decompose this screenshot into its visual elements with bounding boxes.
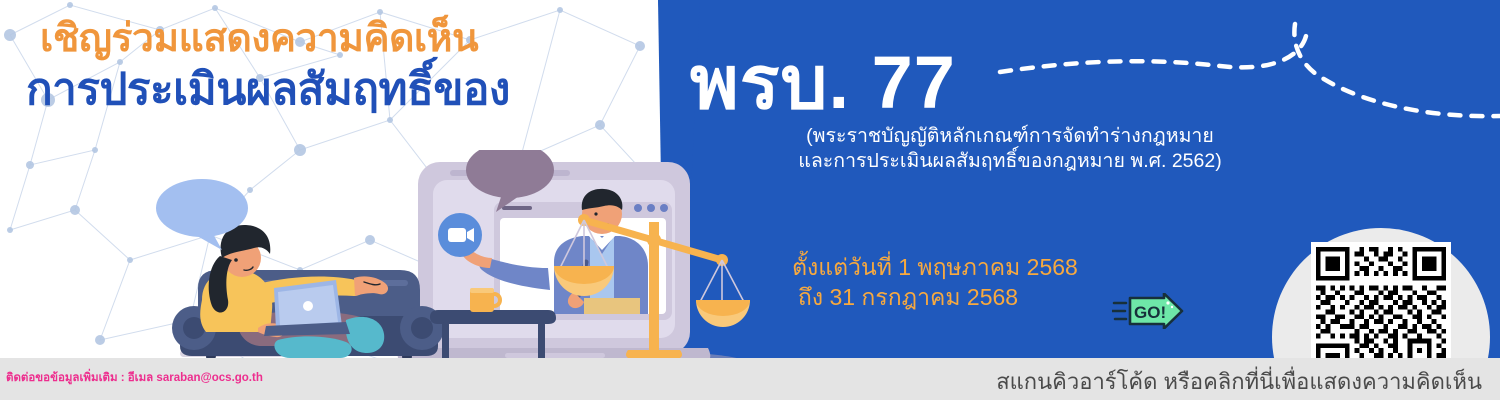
headline-invitation: เชิญร่วมแสดงความคิดเห็น <box>40 18 686 60</box>
act-subtitle-line2: และการประเมินผลสัมฤทธิ์ของกฎหมาย พ.ศ. 25… <box>690 149 1310 174</box>
go-label: GO! <box>1134 303 1166 322</box>
act-subtitle: (พระราชบัญญัติหลักเกณฑ์การจัดทำร่างกฎหมา… <box>690 124 1310 174</box>
act-subtitle-line1: (พระราชบัญญัติหลักเกณฑ์การจัดทำร่างกฎหมา… <box>690 124 1310 149</box>
headline-assessment: การประเมินผลสัมฤทธิ์ของ <box>26 66 686 114</box>
act-block: พรบ. 77 (พระราชบัญญัติหลักเกณฑ์การจัดทำร… <box>690 48 1310 174</box>
sofa-and-woman <box>172 225 444 374</box>
footer-contact-email: ติดต่อขอข้อมูลเพิ่มเติม : อีเมล saraban@… <box>6 369 263 387</box>
footer-cta-link[interactable]: สแกนคิวอาร์โค้ด หรือคลิกที่นี่เพื่อแสดงค… <box>996 364 1482 399</box>
act-title: พรบ. 77 <box>690 48 1310 118</box>
banner: เชิญร่วมแสดงความคิดเห็น การประเมินผลสัมฤ… <box>0 0 1500 400</box>
headline-block: เชิญร่วมแสดงความคิดเห็น การประเมินผลสัมฤ… <box>26 18 686 115</box>
period-start-line: ตั้งแต่วันที่ 1 พฤษภาคม 2568 <box>700 252 1170 282</box>
go-arrow-icon[interactable]: GO! <box>1112 293 1184 329</box>
period-block: ตั้งแต่วันที่ 1 พฤษภาคม 2568 ถึง 31 กรกฎ… <box>700 252 1170 313</box>
video-camera-icon <box>438 213 482 257</box>
period-end-line: ถึง 31 กรกฎาคม 2568 <box>700 282 1170 312</box>
